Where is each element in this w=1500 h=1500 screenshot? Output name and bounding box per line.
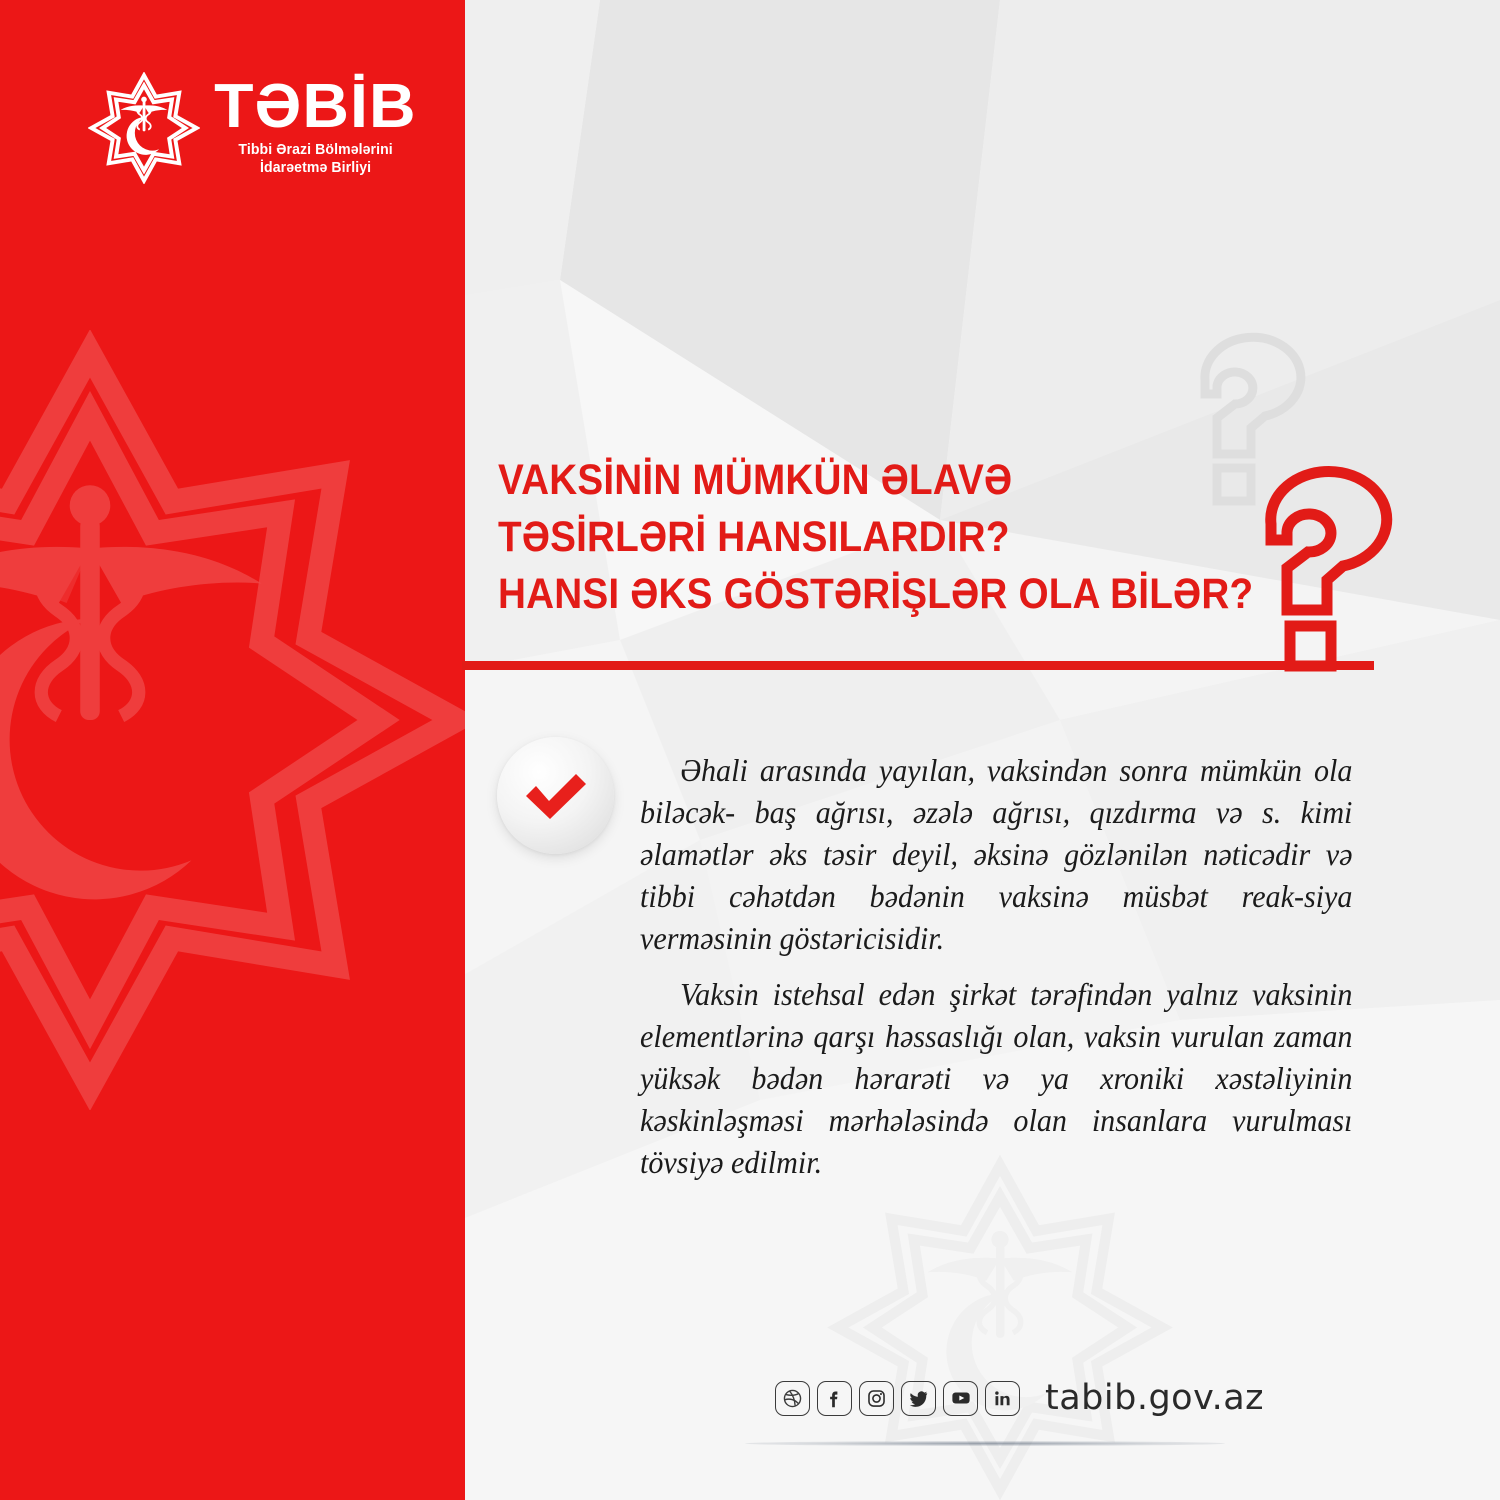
brand-subtitle: Tibbi Ərazi Bölmələrini İdarəetmə Birliy… [238, 141, 392, 178]
panel-logo-watermark [0, 330, 465, 1110]
body-paragraph-1: Əhali arasında yayılan, vaksindən sonra … [640, 750, 1352, 960]
website-url[interactable]: tabib.gov.az [1045, 1378, 1264, 1418]
facebook-icon[interactable] [817, 1381, 852, 1416]
dribbble-icon[interactable] [775, 1381, 810, 1416]
title-line-2: TƏSİRLƏRİ HANSILARDIR? [498, 509, 1272, 566]
title-divider [462, 661, 1374, 670]
check-badge [497, 737, 614, 854]
footer-bar: tabib.gov.az [775, 1378, 1264, 1418]
footer-logo-watermark [690, 1155, 1310, 1500]
title-line-1: VAKSİNİN MÜMKÜN ƏLAVƏ [498, 452, 1272, 509]
linkedin-icon[interactable] [985, 1381, 1020, 1416]
twitter-icon[interactable] [901, 1381, 936, 1416]
brand-subtitle-line2: İdarəetmə Birliyi [260, 160, 371, 176]
body-paragraph-2: Vaksin istehsal edən şirkət tərəfindən y… [640, 974, 1352, 1184]
brand-text: TƏBİB Tibbi Ərazi Bölmələrini İdarəetmə … [218, 78, 413, 178]
infographic-poster: TƏBİB Tibbi Ərazi Bölmələrini İdarəetmə … [0, 0, 1500, 1500]
body-copy: Əhali arasında yayılan, vaksindən sonra … [640, 750, 1352, 1184]
brand-name: TƏBİB [214, 78, 416, 137]
brand-subtitle-line1: Tibbi Ərazi Bölmələrini [238, 142, 392, 158]
youtube-icon[interactable] [943, 1381, 978, 1416]
brand-red-panel [0, 0, 465, 1500]
footer-shadow [745, 1441, 1225, 1446]
brand-logo: TƏBİB Tibbi Ərazi Bölmələrini İdarəetmə … [88, 72, 413, 184]
page-title: VAKSİNİN MÜMKÜN ƏLAVƏ TƏSİRLƏRİ HANSILAR… [498, 452, 1358, 624]
tabib-star-caduceus-logo-icon [88, 72, 200, 184]
title-line-3: HANSI ƏKS GÖSTƏRİŞLƏR OLA BİLƏR? [498, 566, 1272, 623]
instagram-icon[interactable] [859, 1381, 894, 1416]
check-icon [519, 766, 593, 826]
